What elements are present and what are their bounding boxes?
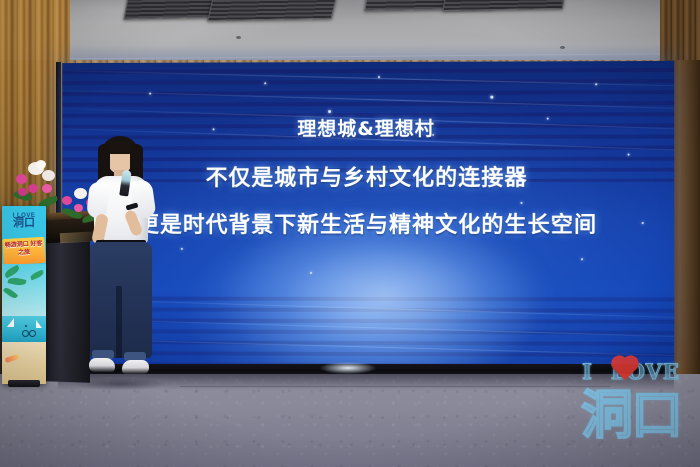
flower-white [42, 170, 55, 181]
flower-pink [16, 174, 27, 184]
ceiling-sprinkler-icon [560, 46, 565, 49]
rollup-banner: I LOVE 洞口 畅游洞口 好客之旅 [2, 206, 46, 384]
watermark-i-love: I LOVE [575, 358, 687, 384]
cyclist-icon [22, 324, 34, 336]
banner-headline: 畅游洞口 好客之旅 [2, 237, 45, 265]
banner-base-stand [8, 380, 40, 387]
banner-beach-illustration [2, 342, 46, 384]
ceiling-vent-icon [207, 0, 337, 21]
event-photo-stage: 理想城&理想村 不仅是城市与乡村文化的连接器 更是时代背景下新生活与精神文化的生… [0, 0, 700, 467]
flower-white [36, 160, 46, 169]
speaker-figure [80, 136, 158, 384]
watermark-chinese-name: 洞口 [575, 386, 687, 446]
trouser-leg-separation [116, 286, 122, 358]
sneaker-left [89, 358, 115, 372]
screen-foot-reflection [320, 362, 376, 374]
banner-logo: I LOVE 洞口 [8, 213, 40, 231]
flower-pink [62, 196, 72, 205]
sneaker-right [122, 360, 149, 374]
banner-logo-cn: 洞口 [8, 220, 40, 227]
flower-pink [42, 184, 52, 193]
watermark-logo: I LOVE 洞口 [575, 358, 687, 454]
floor-seam [180, 386, 610, 387]
watermark-letter-i: I [582, 359, 593, 384]
ceiling-sprinkler-icon [236, 36, 241, 39]
shirt-sleeve-left [86, 181, 110, 219]
flower-pink [18, 188, 27, 196]
flower-pink [28, 184, 38, 193]
